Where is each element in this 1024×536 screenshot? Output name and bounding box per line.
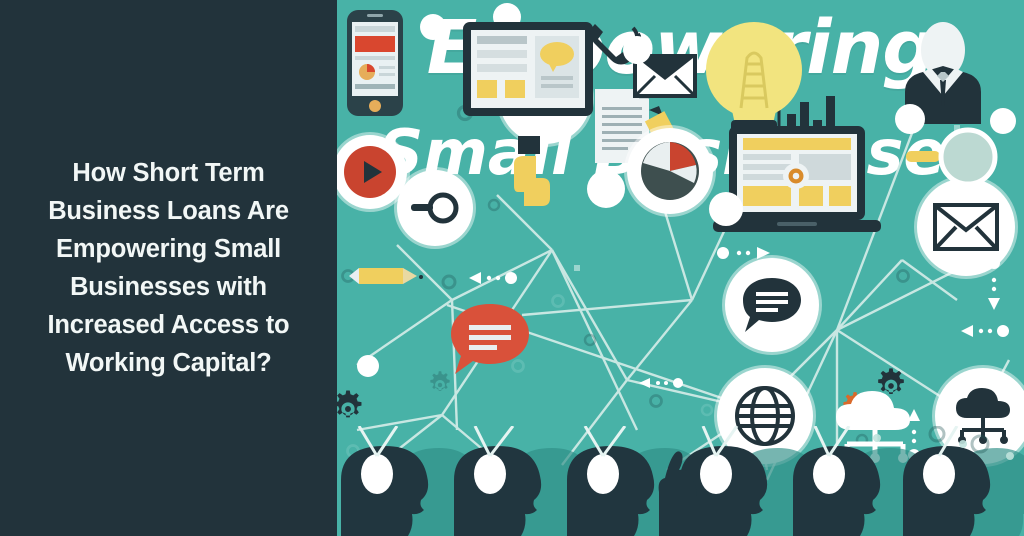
browser-window-icon (461, 20, 595, 125)
gear-icon (547, 290, 569, 312)
article-title-panel: How Short Term Business Loans Are Empowe… (0, 0, 337, 536)
search-magnifier-icon (902, 125, 1024, 225)
gear-icon (892, 265, 914, 287)
gear-icon (697, 400, 717, 420)
arrow-connector-icon (637, 375, 705, 391)
node-dot-icon (357, 355, 379, 377)
play-button-icon (337, 135, 407, 209)
head-silhouettes (337, 426, 1024, 536)
hand-cursor-icon (514, 134, 566, 208)
arrow-connector-icon (467, 270, 533, 286)
node-dot-icon (990, 108, 1016, 134)
chat-bubble-icon (447, 300, 533, 382)
node-dot-icon (895, 104, 925, 134)
gear-icon (437, 270, 461, 294)
banner-image: How Short Term Business Loans Are Empowe… (0, 0, 1024, 536)
pencil-icon (343, 258, 423, 294)
node-dot-icon (587, 170, 625, 208)
speech-bubble-icon (725, 258, 819, 352)
gear-icon (645, 390, 667, 412)
node-dot-icon (709, 192, 743, 226)
gear-icon (484, 195, 504, 215)
magnifier-icon (397, 170, 473, 246)
page-title: How Short Term Business Loans Are Empowe… (19, 154, 319, 382)
artwork-panel: Empowering Small Businesses (337, 0, 1024, 536)
gear-icon (337, 388, 369, 430)
smartphone-icon (345, 8, 405, 123)
node-dot-icon (420, 14, 446, 40)
node-dot-icon (623, 36, 651, 64)
gear-icon (580, 330, 600, 350)
laptop-icon (707, 122, 887, 250)
